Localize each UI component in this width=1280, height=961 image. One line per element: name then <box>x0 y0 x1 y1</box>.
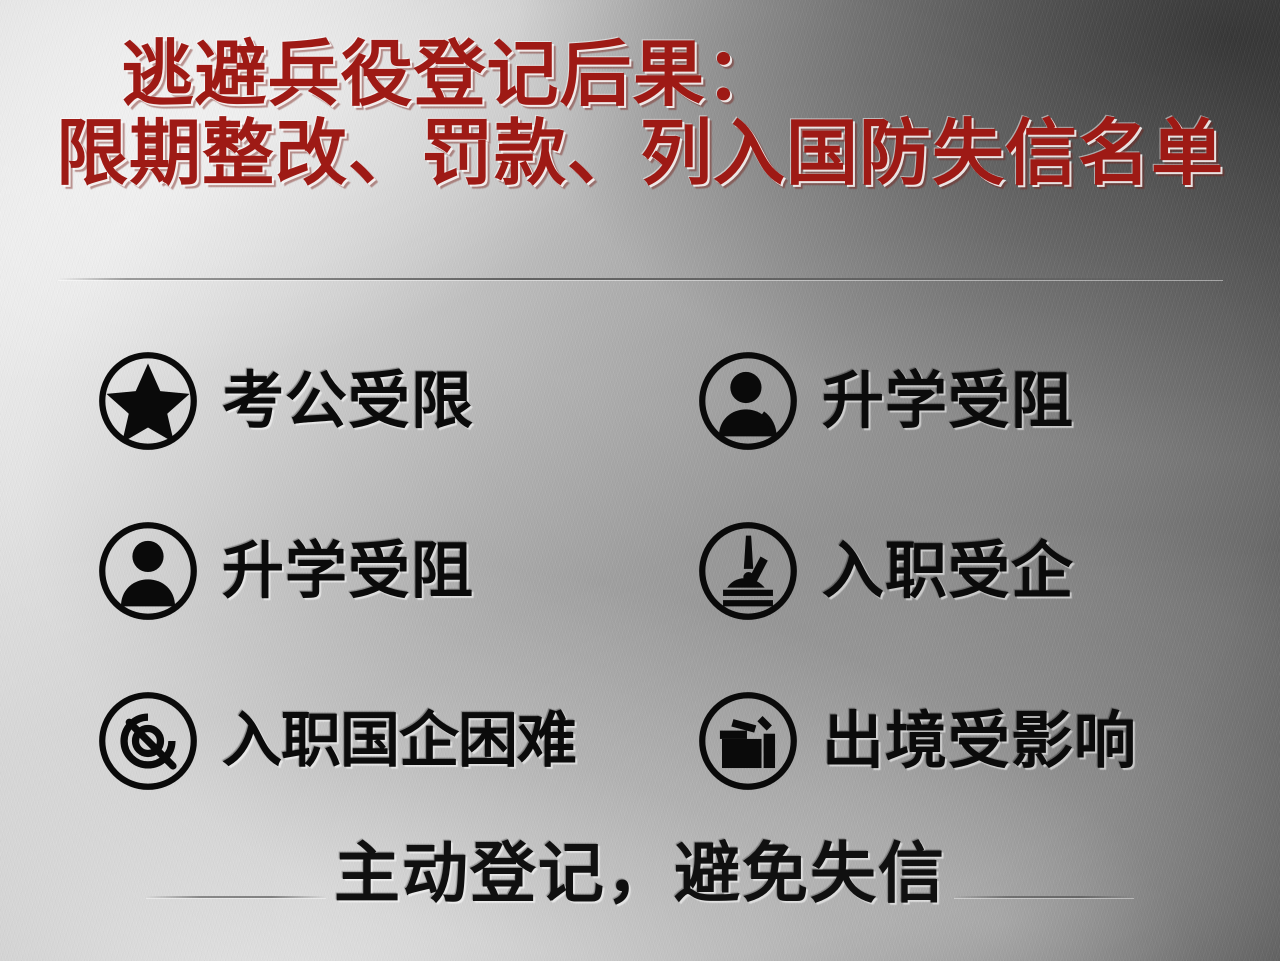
consequence-label: 出境受影响 <box>822 710 1137 772</box>
footer-divider-left <box>146 896 326 898</box>
star-icon <box>96 349 200 453</box>
warning-stamp-icon <box>696 519 800 623</box>
footer-slogan: 主动登记，避免失信 <box>320 820 960 916</box>
consequence-item: 考公受限 <box>96 349 696 453</box>
consequence-label: 升学受阻 <box>222 540 474 602</box>
consequence-item: 入职受企 <box>696 519 1216 623</box>
poster-content: 逃避兵役登记后果： 限期整改、罚款、列入国防失信名单 考公受限 <box>0 0 1280 961</box>
person-icon <box>96 519 200 623</box>
consequence-item: 升学受阻 <box>96 519 696 623</box>
footer-divider-right <box>954 896 1134 898</box>
consequence-item: 升学受阻 <box>696 349 1216 453</box>
title-line-1: 逃避兵役登记后果： <box>0 38 1280 117</box>
magnifier-target-icon <box>96 689 200 793</box>
briefcase-icon <box>696 689 800 793</box>
consequence-label: 入职国企困难 <box>222 711 576 771</box>
footer-block: 主动登记，避免失信 <box>0 820 1280 916</box>
title-divider <box>58 278 1223 280</box>
consequence-label: 考公受限 <box>222 370 474 432</box>
consequence-item: 入职国企困难 <box>96 689 696 793</box>
consequence-label: 入职受企 <box>822 540 1074 602</box>
person-icon <box>696 349 800 453</box>
consequence-label: 升学受阻 <box>822 370 1074 432</box>
consequence-grid: 考公受限 升学受阻 <box>96 316 1216 826</box>
poster-canvas: 逃避兵役登记后果： 限期整改、罚款、列入国防失信名单 考公受限 <box>0 0 1280 961</box>
title-line-2: 限期整改、罚款、列入国防失信名单 <box>0 117 1280 190</box>
consequence-item: 出境受影响 <box>696 689 1216 793</box>
title-block: 逃避兵役登记后果： 限期整改、罚款、列入国防失信名单 <box>0 38 1280 191</box>
